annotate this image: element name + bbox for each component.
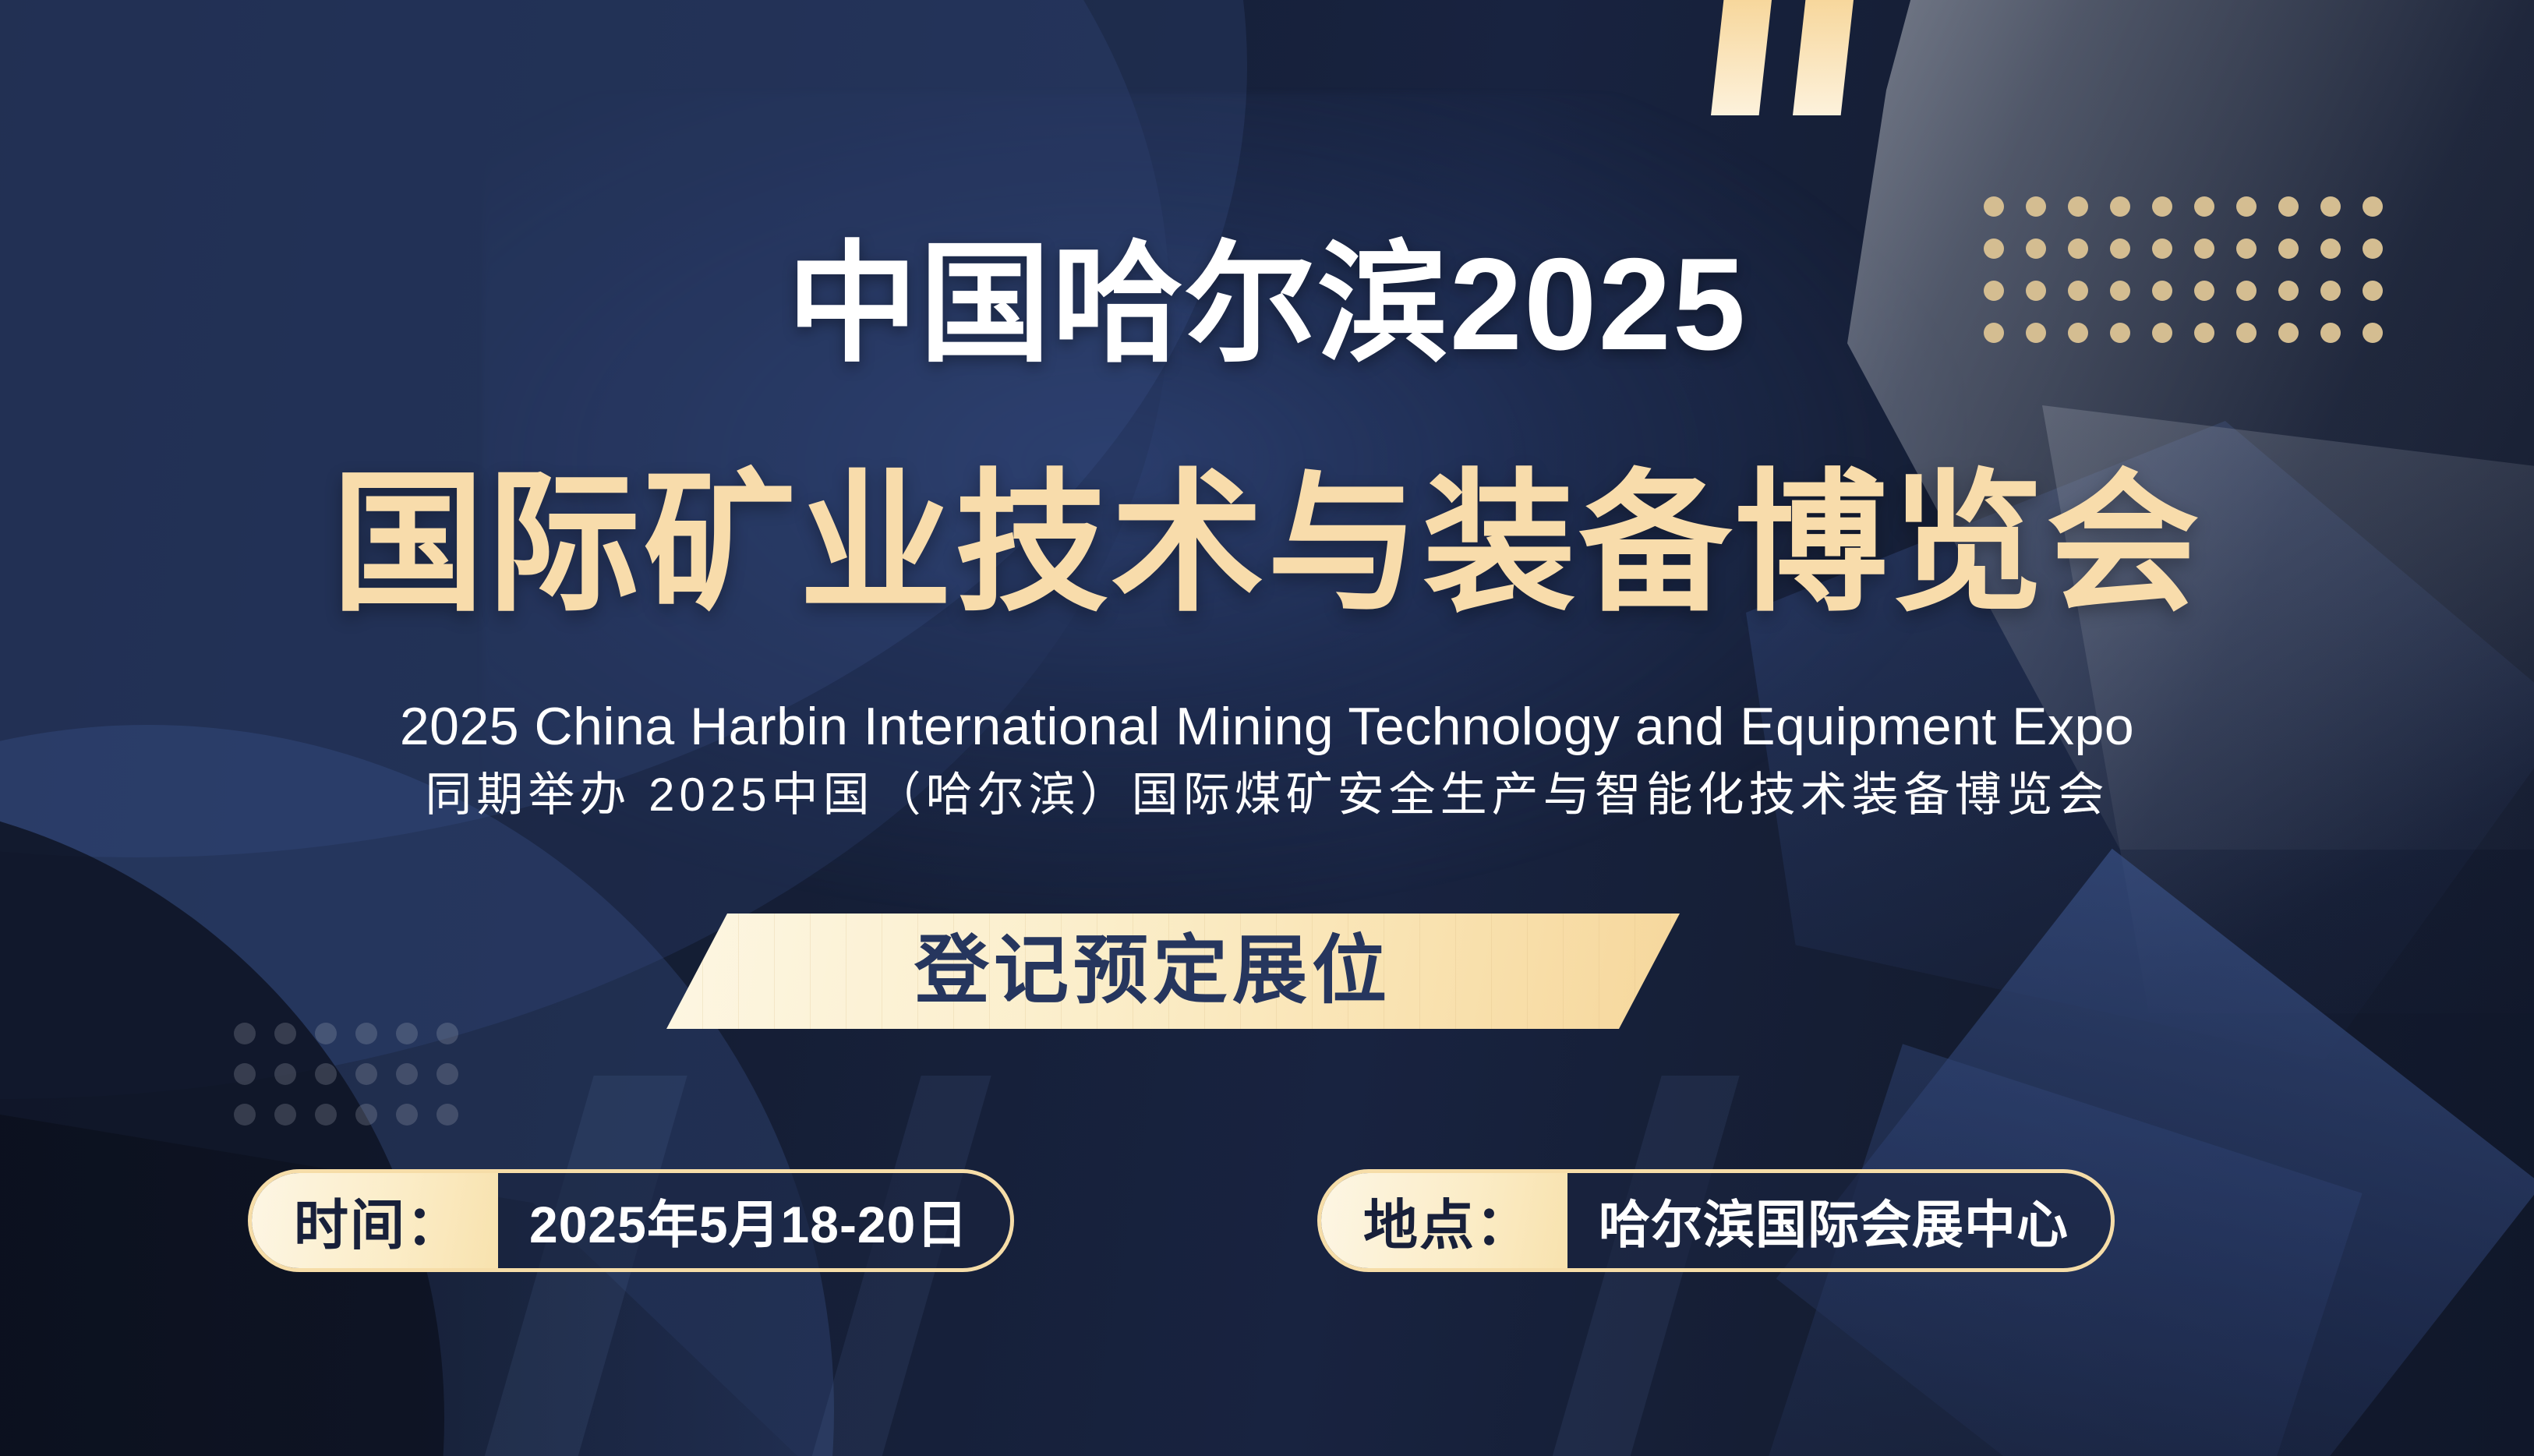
- page-subtitle-gold: 国际矿业技术与装备博览会: [0, 468, 2534, 620]
- register-booth-label: 登记预定展位: [914, 934, 1391, 1009]
- poster-canvas: 中国哈尔滨2025 国际矿业技术与装备博览会 2025 China Harbin…: [0, 0, 2534, 1456]
- page-title-english: 2025 China Harbin International Mining T…: [0, 700, 2534, 753]
- event-date-label: 时间：: [252, 1173, 498, 1268]
- concurrent-event-line: 同期举办 2025中国（哈尔滨）国际煤矿安全生产与智能化技术装备博览会: [0, 772, 2534, 818]
- register-booth-button[interactable]: 登记预定展位: [666, 914, 1680, 1029]
- poster-content: 中国哈尔滨2025 国际矿业技术与装备博览会 2025 China Harbin…: [0, 0, 2534, 1456]
- event-date-pill: 时间： 2025年5月18-20日: [248, 1169, 1014, 1272]
- event-venue-value: 哈尔滨国际会展中心: [1567, 1173, 2111, 1268]
- event-venue-label: 地点：: [1321, 1173, 1567, 1268]
- event-venue-pill: 地点： 哈尔滨国际会展中心: [1317, 1169, 2115, 1272]
- slash-decor-icon-1: [1711, 0, 1772, 115]
- slash-decor-icon-2: [1793, 0, 1854, 115]
- page-title: 中国哈尔滨2025: [0, 239, 2534, 369]
- event-date-value: 2025年5月18-20日: [498, 1173, 1010, 1268]
- cta-banner-wrapper[interactable]: 登记预定展位: [666, 914, 1680, 1029]
